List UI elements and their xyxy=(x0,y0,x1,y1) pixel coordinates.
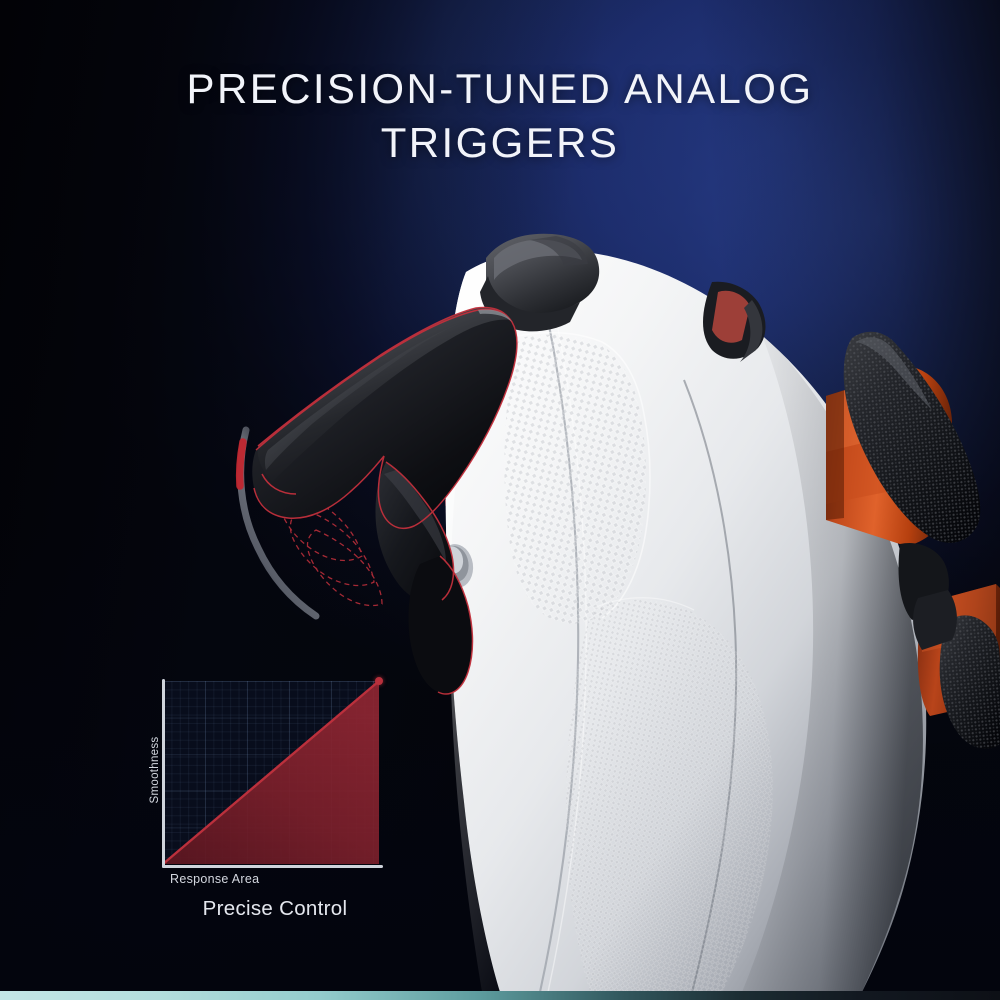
chart-y-axis-label: Smoothness xyxy=(149,725,161,815)
chart-endpoint-marker xyxy=(375,677,383,685)
chart-series-area xyxy=(163,681,379,864)
response-curve-chart: Smoothness Response Area Precise Control xyxy=(132,672,390,924)
chart-x-axis-label: Response Area xyxy=(170,872,259,886)
page-title: PRECISION-TUNED ANALOG TRIGGERS xyxy=(0,62,1000,170)
chart-y-axis xyxy=(162,679,165,868)
chart-caption: Precise Control xyxy=(162,897,388,921)
chart-plot-area xyxy=(163,681,379,864)
hero-promo-image: PRECISION-TUNED ANALOG TRIGGERS Smoothne… xyxy=(0,0,1000,1000)
chart-x-axis xyxy=(162,865,383,868)
bottom-accent-strip xyxy=(0,991,1000,1000)
